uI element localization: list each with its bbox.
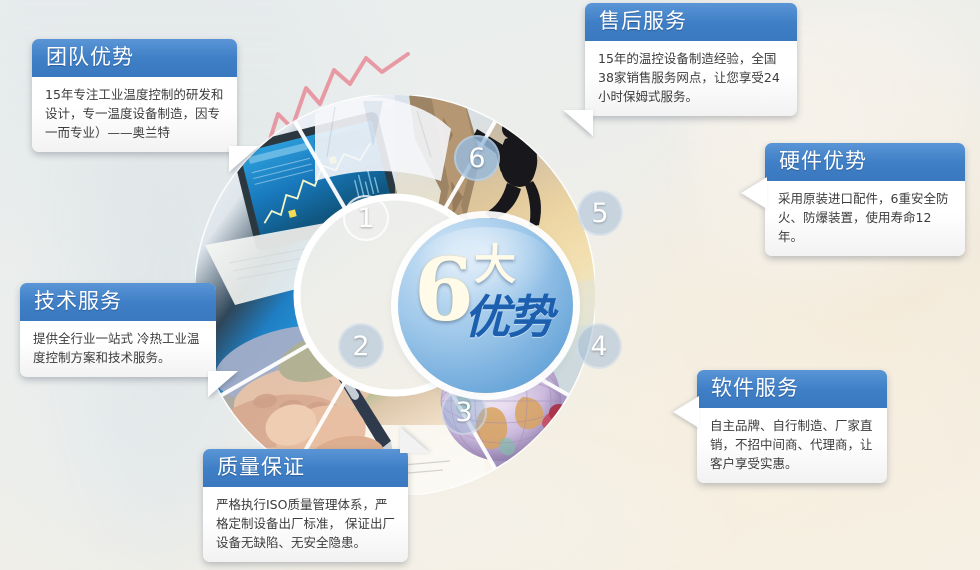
callout-software-body: 自主品牌、自行制造、厂家直销，不招中间商、代理商，让客户享受实惠。 bbox=[697, 408, 887, 483]
segment-number-6[interactable]: 6 bbox=[454, 135, 500, 181]
callout-tail-icon bbox=[563, 110, 593, 136]
callout-after-sales-body: 15年的温控设备制造经验，全国38家销售服务网点，让您享受24小时保姆式服务。 bbox=[585, 41, 797, 116]
callout-team-body: 15年专注工业温度控制的研发和设计，专一温度设备制造，因专一而专业）——奥兰特 bbox=[32, 77, 237, 152]
callout-technical-title: 技术服务 bbox=[20, 283, 216, 321]
callout-after-sales-title: 售后服务 bbox=[585, 3, 797, 41]
callout-team-advantage[interactable]: 团队优势 15年专注工业温度控制的研发和设计，专一温度设备制造，因专一而专业）—… bbox=[32, 39, 237, 152]
callout-quality-body: 严格执行ISO质量管理体系，严格定制设备出厂标准， 保证出厂设备无缺陷、无安全隐… bbox=[203, 487, 408, 562]
callout-tail-icon bbox=[208, 371, 238, 397]
callout-technical-service[interactable]: 技术服务 提供全行业一站式 冷热工业温度控制方案和技术服务。 bbox=[20, 283, 216, 377]
infographic-stage: 1 2 3 4 5 6 6 大 优势 团队优势 15年专注工业温度控制的研发和设… bbox=[0, 0, 980, 570]
callout-hardware-advantage[interactable]: 硬件优势 采用原装进口配件，6重安全防火、防爆装置，使用寿命12年。 bbox=[765, 143, 965, 256]
callout-team-title: 团队优势 bbox=[32, 39, 237, 77]
callout-quality-title: 质量保证 bbox=[203, 449, 408, 487]
callout-software-service[interactable]: 软件服务 自主品牌、自行制造、厂家直销，不招中间商、代理商，让客户享受实惠。 bbox=[697, 370, 887, 483]
segment-number-5[interactable]: 5 bbox=[577, 190, 623, 236]
segment-number-3[interactable]: 3 bbox=[441, 389, 487, 435]
callout-quality-assurance[interactable]: 质量保证 严格执行ISO质量管理体系，严格定制设备出厂标准， 保证出厂设备无缺陷… bbox=[203, 449, 408, 562]
center-hub[interactable]: 6 大 优势 bbox=[398, 218, 573, 393]
segment-number-1[interactable]: 1 bbox=[343, 195, 389, 241]
callout-after-sales[interactable]: 售后服务 15年的温控设备制造经验，全国38家销售服务网点，让您享受24小时保姆… bbox=[585, 3, 797, 116]
callout-tail-icon bbox=[741, 177, 767, 209]
callout-tail-icon bbox=[400, 427, 430, 453]
segment-number-2[interactable]: 2 bbox=[338, 323, 384, 369]
callout-software-title: 软件服务 bbox=[697, 370, 887, 408]
callout-hardware-body: 采用原装进口配件，6重安全防火、防爆装置，使用寿命12年。 bbox=[765, 181, 965, 256]
callout-hardware-title: 硬件优势 bbox=[765, 143, 965, 181]
callout-tail-icon bbox=[673, 396, 699, 428]
callout-tail-icon bbox=[229, 146, 259, 172]
segment-number-4[interactable]: 4 bbox=[576, 323, 622, 369]
center-text-advantage: 优势 bbox=[464, 292, 552, 342]
callout-technical-body: 提供全行业一站式 冷热工业温度控制方案和技术服务。 bbox=[20, 321, 216, 377]
center-character-da: 大 bbox=[474, 244, 516, 286]
